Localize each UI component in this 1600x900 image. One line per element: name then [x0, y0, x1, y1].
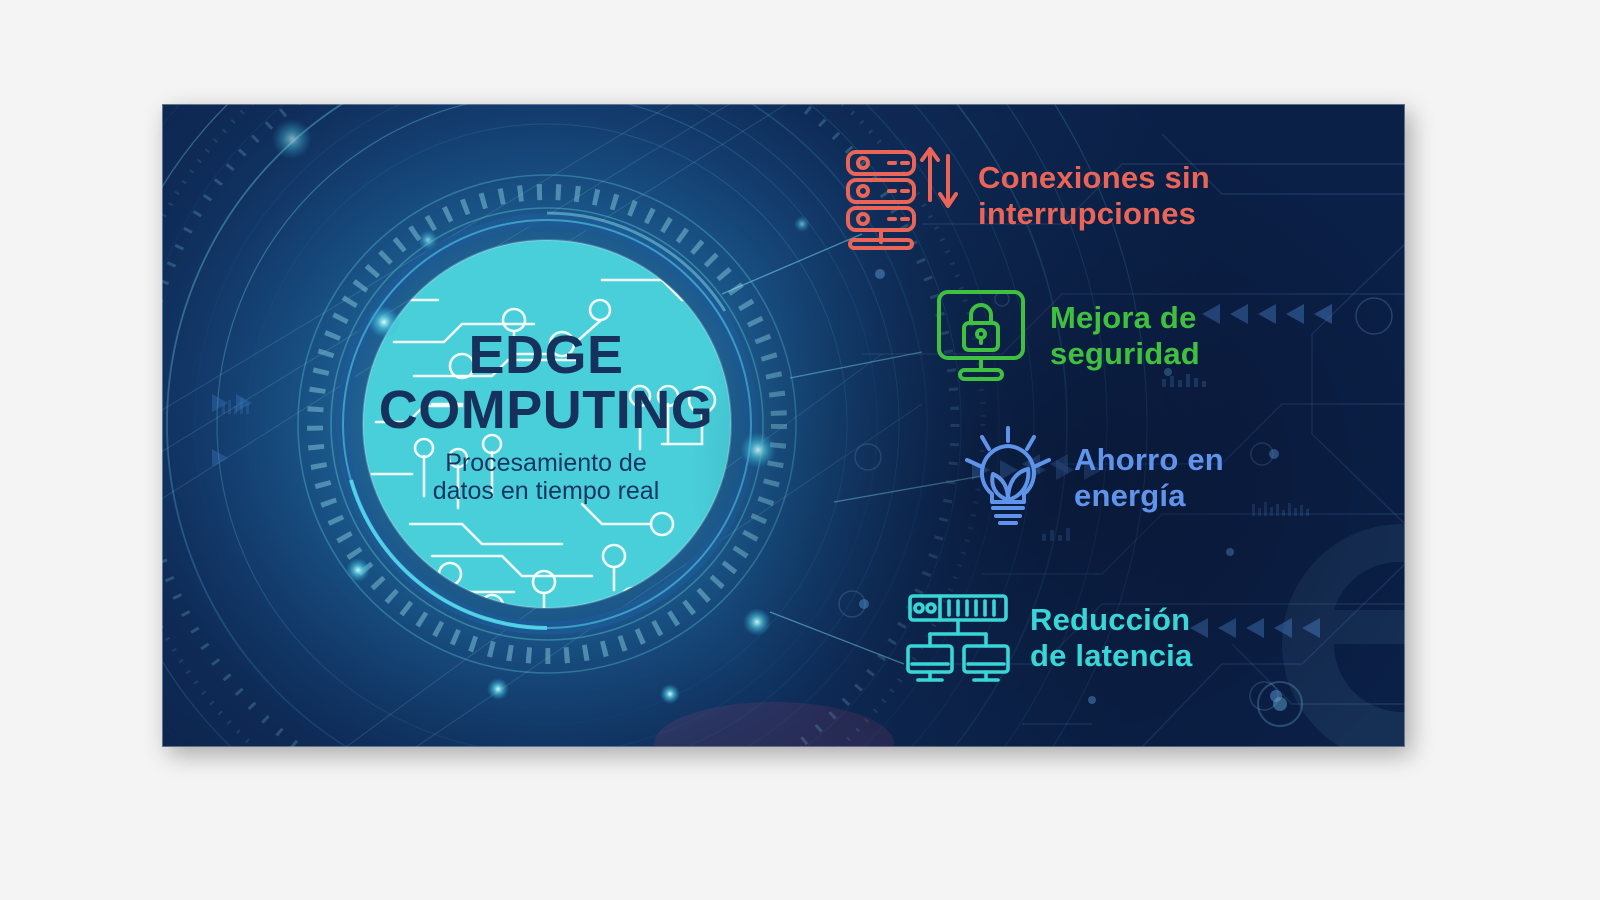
feature-label-line-1: Reducción	[1030, 602, 1192, 638]
feature-label-line-2: energía	[1074, 478, 1224, 514]
feature-label-energia: Ahorro en energía	[1074, 442, 1224, 514]
watermark-node-dot	[1273, 697, 1287, 711]
feature-item-energia[interactable]: Ahorro en energía	[960, 424, 1224, 532]
feature-label-line-1: Conexiones sin	[978, 160, 1210, 196]
infographic-canvas: EDGE COMPUTING Procesamiento de datos en…	[162, 104, 1405, 747]
page-root: EDGE COMPUTING Procesamiento de datos en…	[0, 0, 1600, 900]
feature-label-seguridad: Mejora de seguridad	[1050, 300, 1200, 372]
feature-item-seguridad[interactable]: Mejora de seguridad	[934, 286, 1200, 386]
feature-item-conexiones[interactable]: Conexiones sin interrupciones	[842, 142, 1210, 250]
feature-label-line-2: seguridad	[1050, 336, 1200, 372]
feature-item-latencia[interactable]: Reducción de latencia	[904, 592, 1192, 684]
feature-label-line-2: interrupciones	[978, 196, 1210, 232]
monitor-lock-icon	[934, 286, 1032, 386]
feature-label-line-1: Mejora de	[1050, 300, 1200, 336]
feature-label-line-2: de latencia	[1030, 638, 1192, 674]
lightbulb-leaf-icon	[960, 424, 1056, 532]
server-transfer-icon	[842, 142, 960, 250]
network-switch-icon	[904, 592, 1012, 684]
feature-label-line-1: Ahorro en	[1074, 442, 1224, 478]
feature-label-latencia: Reducción de latencia	[1030, 602, 1192, 674]
feature-label-conexiones: Conexiones sin interrupciones	[978, 160, 1210, 232]
